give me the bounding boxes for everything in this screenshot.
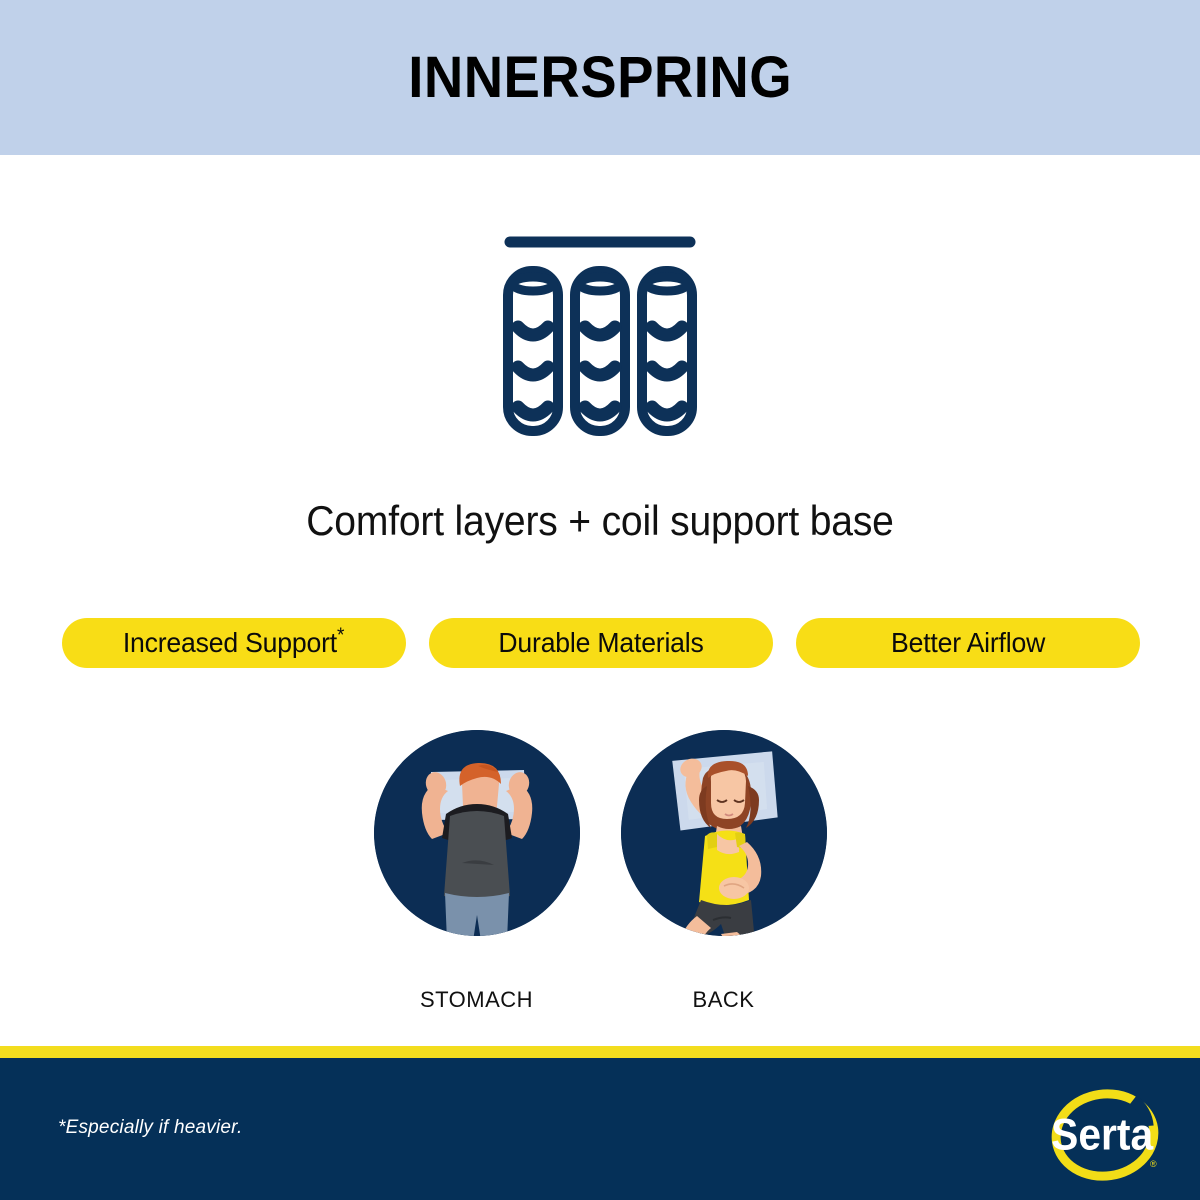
coil-stack-icon [485, 215, 715, 445]
feature-pill-row: Increased Support* Durable Materials Bet… [62, 618, 1140, 668]
asterisk-marker: * [337, 625, 344, 647]
coil-icon-container [0, 215, 1200, 445]
footnote-text: *Especially if heavier. [58, 1117, 242, 1139]
back-sleeper-illustration [621, 730, 827, 936]
feature-pill-increased-support[interactable]: Increased Support* [62, 618, 406, 668]
page-title: INNERSPRING [408, 49, 792, 107]
serta-logo[interactable]: Serta ® [1044, 1088, 1166, 1182]
feature-pill-durable-materials[interactable]: Durable Materials [429, 618, 773, 668]
sleep-position-label: BACK [693, 987, 755, 1013]
feature-pill-label: Durable Materials [498, 627, 703, 659]
stomach-sleeper-illustration [374, 730, 580, 936]
sleep-position-label: STOMACH [420, 987, 533, 1013]
infographic-page: INNERSPRING [0, 0, 1200, 1200]
sleep-position-card-stomach[interactable]: STOMACH [374, 730, 580, 1013]
serta-wordmark: Serta [1051, 1110, 1154, 1160]
feature-pill-label: Increased Support* [123, 627, 344, 659]
registered-mark: ® [1150, 1159, 1157, 1169]
sleep-position-card-back[interactable]: BACK [621, 730, 827, 1013]
feature-pill-label: Better Airflow [891, 627, 1045, 659]
sleep-position-row: STOMACH [0, 730, 1200, 1013]
footer-accent-stripe [0, 1046, 1200, 1058]
header-band: INNERSPRING [0, 0, 1200, 155]
feature-pill-better-airflow[interactable]: Better Airflow [796, 618, 1140, 668]
hero-subtitle: Comfort layers + coil support base [42, 498, 1158, 544]
